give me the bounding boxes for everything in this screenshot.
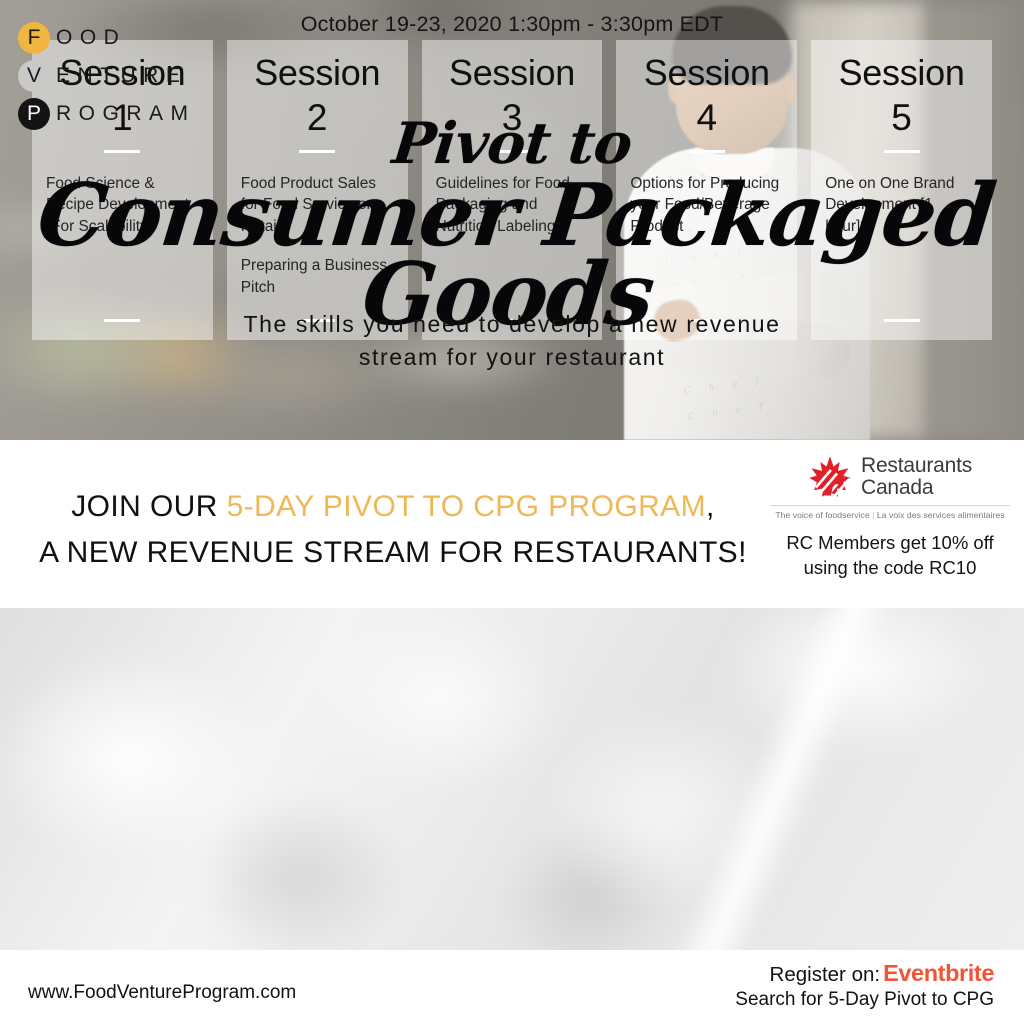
offer-line2: using the code RC10 — [770, 556, 1010, 581]
registration-info: Register on:Eventbrite Search for 5-Day … — [735, 960, 994, 1011]
logo-badge-f: F — [18, 22, 50, 54]
logo-word-program: ROGRAM — [56, 102, 196, 126]
offer-line1: RC Members get 10% off — [770, 531, 1010, 556]
website-url[interactable]: www.FoodVentureProgram.com — [28, 982, 296, 1004]
session-label: Session — [839, 53, 965, 93]
sessions-section — [0, 608, 1024, 950]
headline-part1: JOIN OUR — [71, 490, 226, 523]
headline-line2: A NEW REVENUE STREAM FOR RESTAURANTS! — [38, 530, 748, 576]
hero-subtitle-line1: The skills you need to develop a new rev… — [0, 308, 1024, 341]
rc-name-line1: Restaurants — [861, 455, 972, 477]
headline-highlight: 5-DAY PIVOT TO CPG PROGRAM — [227, 490, 706, 523]
logo-badge-v: V — [18, 60, 50, 92]
restaurants-canada-logo: Restaurants Canada — [770, 455, 1010, 500]
register-label: Register on: — [770, 963, 881, 986]
hero-subtitle: The skills you need to develop a new rev… — [0, 308, 1024, 375]
logo-badge-p: P — [18, 98, 50, 130]
hero-title: Pivot to Consumer Packaged Goods — [0, 118, 1024, 335]
headline-text: JOIN OUR 5-DAY PIVOT TO CPG PROGRAM, A N… — [38, 484, 748, 575]
hero-subtitle-line2: stream for your restaurant — [0, 341, 1024, 374]
headline-line1: JOIN OUR 5-DAY PIVOT TO CPG PROGRAM, — [38, 484, 748, 530]
member-discount-offer: RC Members get 10% off using the code RC… — [770, 531, 1010, 581]
logo-line-food: F OOD — [18, 20, 196, 56]
logo-word-food: OOD — [56, 26, 126, 50]
headline-comma: , — [706, 490, 715, 523]
restaurants-canada-tagline: The voice of foodservice | La voix des s… — [770, 505, 1010, 520]
session-label: Session — [644, 53, 770, 93]
logo-line-program: P ROGRAM — [18, 96, 196, 132]
session-label: Session — [449, 53, 575, 93]
tagline-separator: | — [872, 510, 874, 520]
logo-word-venture: ENTURE — [56, 64, 187, 88]
logo-line-venture: V ENTURE — [18, 58, 196, 94]
tagline-en: The voice of foodservice — [775, 510, 869, 520]
restaurants-canada-name: Restaurants Canada — [861, 455, 972, 500]
register-search-hint: Search for 5-Day Pivot to CPG — [735, 989, 994, 1011]
maple-leaf-icon — [808, 455, 852, 499]
food-venture-program-logo: F OOD V ENTURE P ROGRAM — [18, 20, 196, 134]
register-on-line: Register on:Eventbrite — [735, 960, 994, 987]
rc-name-line2: Canada — [861, 477, 972, 499]
eventbrite-logo-text[interactable]: Eventbrite — [883, 960, 994, 986]
restaurants-canada-block: Restaurants Canada The voice of foodserv… — [770, 455, 1010, 581]
session-label: Session — [254, 53, 380, 93]
tagline-fr: La voix des services alimentaires — [877, 510, 1005, 520]
sessions-background-highlight — [633, 608, 926, 950]
